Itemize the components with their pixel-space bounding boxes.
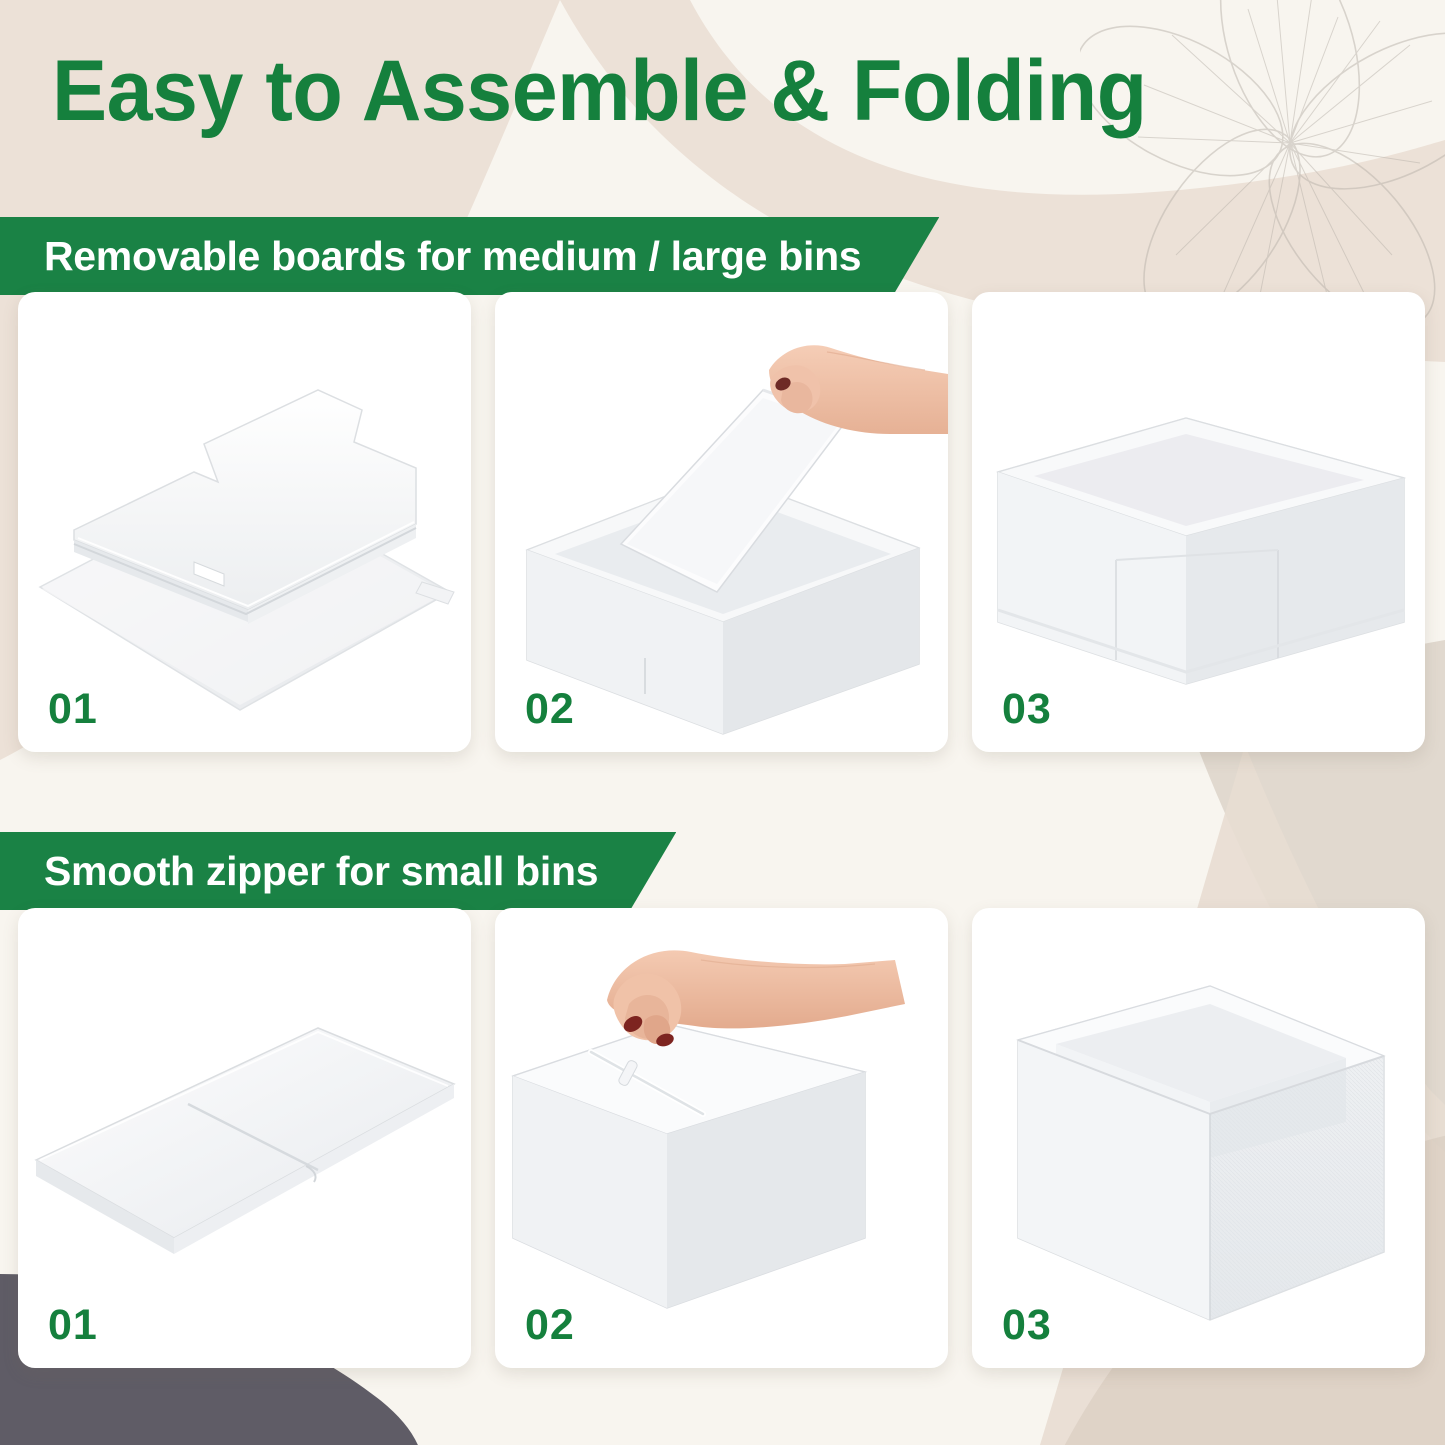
- steps-row-medium-large-bins: 01: [18, 292, 1427, 752]
- product-infographic-poster: Easy to Assemble & Folding Removable boa…: [0, 0, 1445, 1445]
- step-number: 01: [48, 685, 98, 734]
- step-number: 02: [525, 1301, 575, 1350]
- section-banner-removable-boards: Removable boards for medium / large bins: [0, 217, 939, 295]
- assembled-small-cube-bin-photo: [972, 908, 1425, 1368]
- step-card-2-02[interactable]: 02: [495, 908, 948, 1368]
- hand-pulling-zipper-photo: [495, 908, 948, 1368]
- folded-board-and-flat-bin-photo: [18, 292, 471, 752]
- step-number: 03: [1002, 685, 1052, 734]
- step-card-1-02[interactable]: 02: [495, 292, 948, 752]
- step-number: 01: [48, 1301, 98, 1350]
- section-banner-label: Smooth zipper for small bins: [44, 848, 598, 895]
- steps-row-small-bins: 01: [18, 908, 1427, 1368]
- step-number: 02: [525, 685, 575, 734]
- page-title: Easy to Assemble & Folding: [52, 48, 1147, 134]
- flat-folded-small-bin-photo: [18, 908, 471, 1368]
- step-card-1-03[interactable]: 03: [972, 292, 1425, 752]
- assembled-large-bin-photo: [972, 292, 1425, 752]
- section-banner-smooth-zipper: Smooth zipper for small bins: [0, 832, 676, 910]
- step-card-2-03[interactable]: 03: [972, 908, 1425, 1368]
- hand-inserting-board-photo: [495, 292, 948, 752]
- section-banner-label: Removable boards for medium / large bins: [44, 233, 861, 280]
- step-card-1-01[interactable]: 01: [18, 292, 471, 752]
- step-card-2-01[interactable]: 01: [18, 908, 471, 1368]
- step-number: 03: [1002, 1301, 1052, 1350]
